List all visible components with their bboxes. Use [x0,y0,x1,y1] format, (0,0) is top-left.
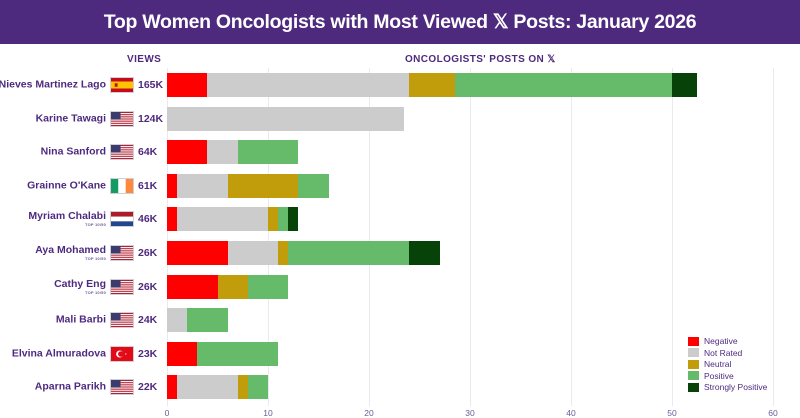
bar-segment-negative[interactable] [167,275,218,299]
bar-segment-not-rated[interactable] [207,140,237,164]
bar-segment-strongly-positive[interactable] [409,241,439,265]
legend-label: Neutral [704,359,731,369]
stacked-bar[interactable] [167,107,404,131]
bar-segment-strongly-positive[interactable] [288,207,298,231]
flag-us-icon [110,245,134,261]
bar-segment-not-rated[interactable] [228,241,279,265]
oncologist-name: Aparna Parikh [35,382,106,393]
legend-swatch-icon [688,360,699,369]
oncologist-name: Elvina Almuradova [12,348,106,359]
bar-segment-positive[interactable] [288,241,409,265]
table-row[interactable]: Cathy EngTOP 10/5026K [0,272,800,302]
bar-segment-negative[interactable] [167,342,197,366]
flag-us-icon [110,379,134,395]
bar-segment-neutral[interactable] [218,275,248,299]
views-count: 22K [138,381,157,393]
bar-segment-positive[interactable] [197,342,278,366]
oncologist-name: Nina Sanford [41,147,106,158]
x-axis-tick-label: 30 [465,408,474,418]
stacked-bar[interactable] [167,342,278,366]
bar-segment-not-rated[interactable] [207,73,409,97]
x-axis-tick-label: 20 [364,408,373,418]
oncologist-rank-subtext: TOP 10/50 [54,291,106,295]
x-axis-tick-label: 60 [768,408,777,418]
flag-nl-icon [110,211,134,227]
bar-segment-positive[interactable] [248,275,288,299]
bar-segment-positive[interactable] [455,73,672,97]
legend-item[interactable]: Not Rated [688,348,794,358]
bar-segment-not-rated[interactable] [167,308,187,332]
legend-item[interactable]: Neutral [688,359,794,369]
bar-segment-neutral[interactable] [268,207,278,231]
views-count: 26K [138,247,157,259]
bar-segment-positive[interactable] [248,375,268,399]
stacked-bar[interactable] [167,275,288,299]
x-axis-tick-label: 40 [566,408,575,418]
stacked-bar[interactable] [167,375,268,399]
column-header-posts: ONCOLOGISTS' POSTS ON 𝕏 [405,54,556,65]
bar-segment-negative[interactable] [167,73,207,97]
oncologist-name: Nieves Martinez Lago [0,79,106,90]
oncologist-rank-subtext: TOP 10/50 [35,257,106,261]
oncologist-name: Mali Barbi [56,315,106,326]
views-count: 64K [138,146,157,158]
oncologist-name: Cathy EngTOP 10/50 [54,278,106,294]
views-count: 24K [138,314,157,326]
stacked-bar[interactable] [167,174,329,198]
x-axis-tick-label: 0 [165,408,170,418]
legend-label: Strongly Positive [704,382,767,392]
bar-segment-strongly-positive[interactable] [672,73,697,97]
bar-segment-positive[interactable] [298,174,328,198]
legend-label: Not Rated [704,348,742,358]
bar-segment-not-rated[interactable] [167,107,404,131]
table-row[interactable]: Aya MohamedTOP 10/5026K [0,238,800,268]
bar-segment-negative[interactable] [167,375,177,399]
bar-segment-positive[interactable] [278,207,288,231]
views-count: 26K [138,281,157,293]
views-count: 165K [138,79,163,91]
bar-segment-not-rated[interactable] [177,174,228,198]
legend-swatch-icon [688,383,699,392]
flag-tr-icon [110,346,134,362]
bar-segment-neutral[interactable] [409,73,454,97]
bar-segment-neutral[interactable] [228,174,299,198]
table-row[interactable]: Grainne O'Kane61K [0,171,800,201]
stacked-bar[interactable] [167,207,298,231]
stacked-bar[interactable] [167,308,228,332]
oncologist-name: Aya MohamedTOP 10/50 [35,245,106,261]
stacked-bar[interactable] [167,140,298,164]
views-count: 46K [138,213,157,225]
bar-segment-positive[interactable] [187,308,227,332]
x-axis-tick-label: 50 [667,408,676,418]
column-header-views: VIEWS [127,54,161,65]
oncologist-name: Karine Tawagi [36,113,106,124]
flag-us-icon [110,111,134,127]
bar-segment-negative[interactable] [167,241,228,265]
views-count: 124K [138,113,163,125]
oncologist-name: Grainne O'Kane [27,180,106,191]
flag-us-icon [110,312,134,328]
legend: NegativeNot RatedNeutralPositiveStrongly… [688,336,794,394]
x-axis-tick-label: 10 [263,408,272,418]
table-row[interactable]: Elvina Almuradova23K [0,339,800,369]
flag-us-icon [110,144,134,160]
views-count: 61K [138,180,157,192]
legend-swatch-icon [688,371,699,380]
legend-label: Negative [704,336,738,346]
bar-segment-neutral[interactable] [278,241,288,265]
bar-segment-neutral[interactable] [238,375,248,399]
legend-label: Positive [704,371,734,381]
flag-us-icon [110,279,134,295]
table-row[interactable]: Nieves Martinez Lago165K [0,70,800,100]
stacked-bar[interactable] [167,241,440,265]
bar-segment-positive[interactable] [238,140,299,164]
title-bar: Top Women Oncologists with Most Viewed 𝕏… [0,0,800,44]
legend-item[interactable]: Positive [688,371,794,381]
legend-item[interactable]: Negative [688,336,794,346]
legend-swatch-icon [688,348,699,357]
views-count: 23K [138,348,157,360]
stacked-bar[interactable] [167,73,697,97]
bar-segment-negative[interactable] [167,207,177,231]
table-row[interactable]: Karine Tawagi124K [0,104,800,134]
legend-swatch-icon [688,337,699,346]
bar-segment-negative[interactable] [167,174,177,198]
flag-es-icon [110,77,134,93]
bar-segment-not-rated[interactable] [177,207,268,231]
oncologist-name: Myriam ChalabiTOP 10/50 [28,211,106,227]
bar-segment-not-rated[interactable] [177,375,238,399]
table-row[interactable]: Myriam ChalabiTOP 10/5046K [0,204,800,234]
bar-segment-negative[interactable] [167,140,207,164]
table-row[interactable]: Mali Barbi24K [0,305,800,335]
page-title: Top Women Oncologists with Most Viewed 𝕏… [104,10,697,34]
legend-item[interactable]: Strongly Positive [688,382,794,392]
chart-root: Top Women Oncologists with Most Viewed 𝕏… [0,0,800,418]
oncologist-rank-subtext: TOP 10/50 [28,223,106,227]
table-row[interactable]: Aparna Parikh22K [0,372,800,402]
table-row[interactable]: Nina Sanford64K [0,137,800,167]
flag-ie-icon [110,178,134,194]
